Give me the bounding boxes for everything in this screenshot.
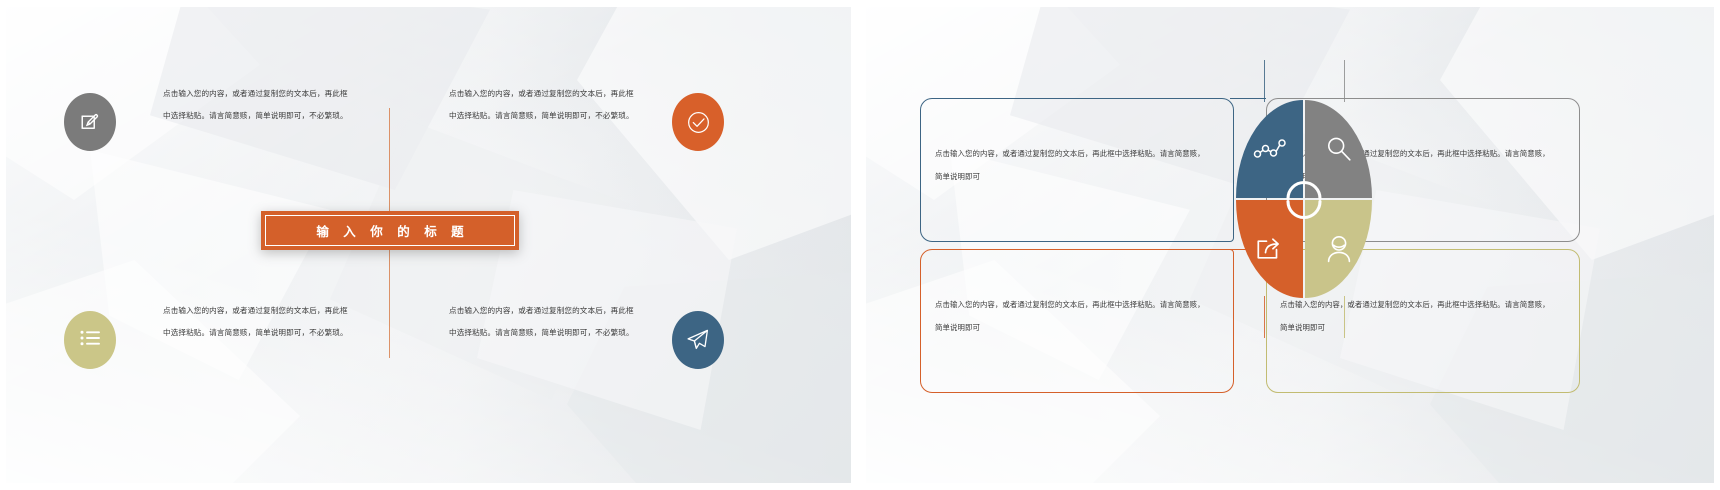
slide-edge [0,0,857,7]
box-text-top-left: 点击输入您的内容，或者通过复制您的文本后，再此框中选择粘贴。请言简意赅，简单说明… [935,142,1207,189]
slide-edge [0,483,857,490]
quadrant-gray[interactable] [1305,100,1372,198]
text-block-top-left: 点击输入您的内容，或者通过复制您的文本后，再此框中选择粘贴。请言简意赅，简单说明… [163,83,353,128]
connector-stem [1344,60,1345,102]
quadrant-orange[interactable] [1236,200,1303,298]
connector-stem [1264,296,1265,338]
slide-left: 点击输入您的内容，或者通过复制您的文本后，再此框中选择粘贴。请言简意赅，简单说明… [0,0,860,490]
slide-edge [1714,0,1720,490]
connector-stem [1344,296,1345,338]
pencil-square-icon[interactable] [64,93,116,151]
slide-pair-canvas: 点击输入您的内容，或者通过复制您的文本后，再此框中选择粘贴。请言简意赅，简单说明… [0,0,1720,490]
slide-edge [860,483,1720,490]
title-banner[interactable]: 输 入 你 的 标 题 [261,211,519,250]
check-circle-icon[interactable] [672,93,724,151]
slide-edge [0,0,6,490]
page-title: 输 入 你 的 标 题 [311,221,469,240]
connected-dots-chart-icon [1253,137,1287,161]
person-user-icon [1325,234,1353,264]
slide-right: 点击输入您的内容，或者通过复制您的文本后，再此框中选择粘贴。请言简意赅，简单说明… [860,0,1720,490]
slide-edge [851,0,857,490]
slide-edge [860,0,1720,7]
paper-plane-icon[interactable] [672,311,724,369]
quadrant-khaki[interactable] [1305,200,1372,298]
share-export-icon [1255,236,1285,262]
text-block-bottom-right: 点击输入您的内容，或者通过复制您的文本后，再此框中选择粘贴。请言简意赅，简单说明… [449,300,639,345]
quadrant-blue[interactable] [1236,100,1303,198]
text-block-bottom-left: 点击输入您的内容，或者通过复制您的文本后，再此框中选择粘贴。请言简意赅，简单说明… [163,300,353,345]
magnifier-search-icon [1324,134,1354,164]
text-block-top-right: 点击输入您的内容，或者通过复制您的文本后，再此框中选择粘贴。请言简意赅，简单说明… [449,83,639,128]
four-quadrant-wheel [1236,100,1372,298]
title-banner-inner-border: 输 入 你 的 标 题 [265,215,515,246]
box-text-bottom-right: 点击输入您的内容，或者通过复制您的文本后，再此框中选择粘贴。请言简意赅，简单说明… [1280,293,1552,340]
connector-stem [1264,60,1265,102]
bullet-list-icon[interactable] [64,311,116,369]
slide-edge [860,0,866,490]
box-text-bottom-left: 点击输入您的内容，或者通过复制您的文本后，再此框中选择粘贴。请言简意赅，简单说明… [935,293,1207,340]
